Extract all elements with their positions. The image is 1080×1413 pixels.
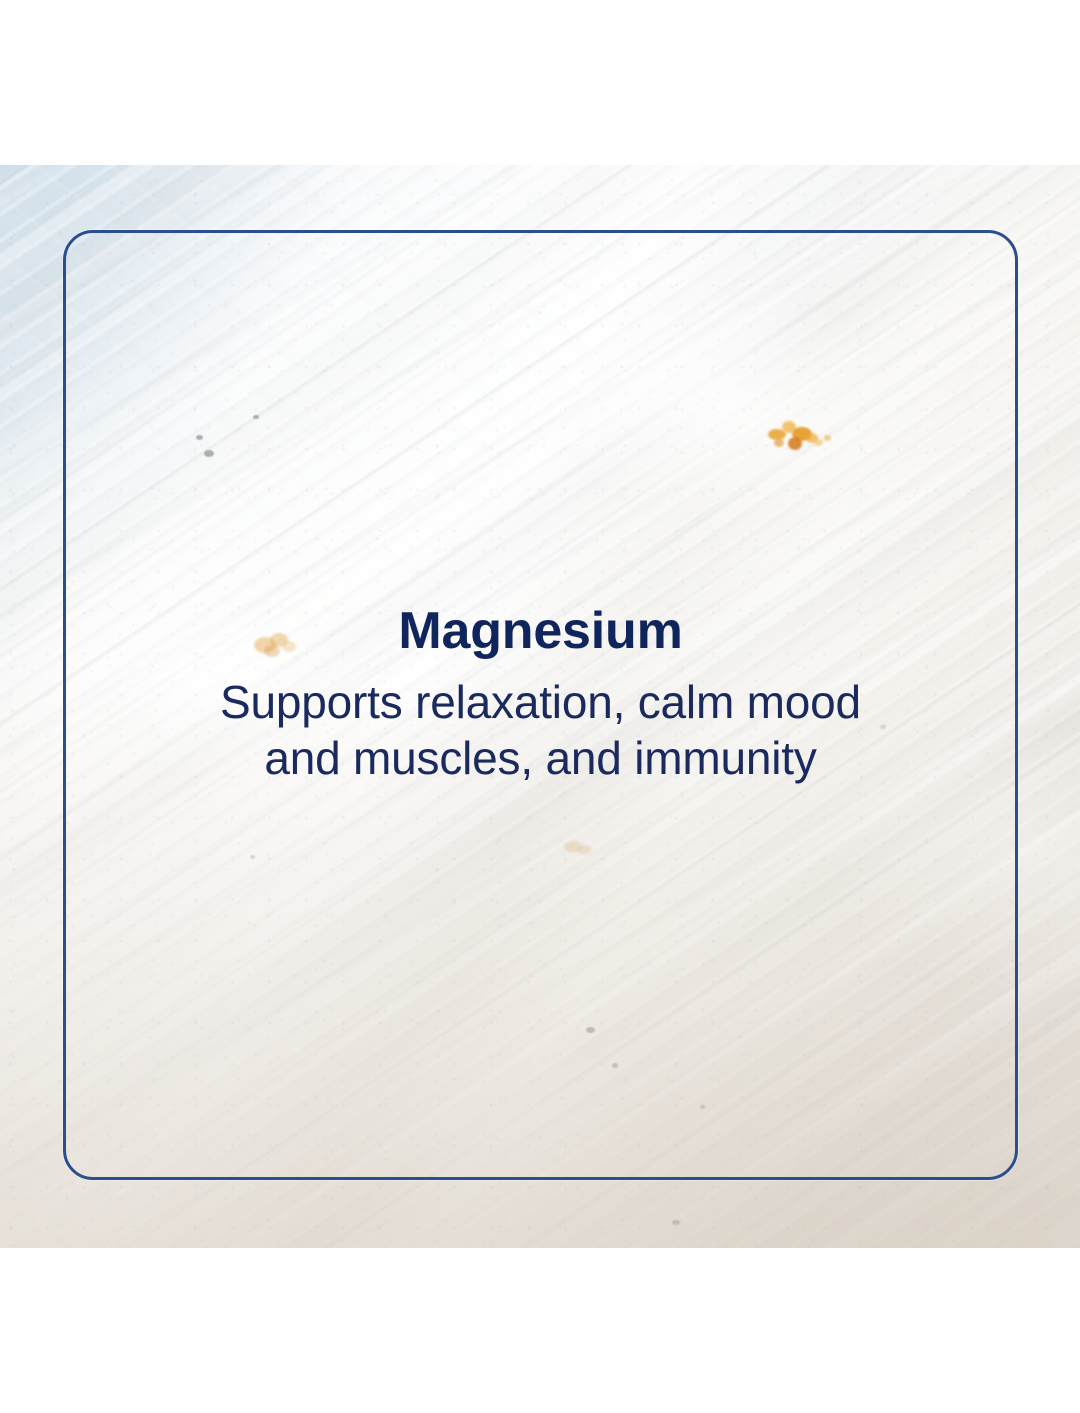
subtitle: Supports relaxation, calm mood and muscl… [63,674,1018,786]
subtitle-line-2: and muscles, and immunity [63,730,1018,786]
text-block: Magnesium Supports relaxation, calm mood… [63,600,1018,786]
subtitle-line-1: Supports relaxation, calm mood [63,674,1018,730]
dark-fleck [672,1220,680,1225]
page-title: Magnesium [63,600,1018,662]
poster-canvas: Magnesium Supports relaxation, calm mood… [0,0,1080,1413]
